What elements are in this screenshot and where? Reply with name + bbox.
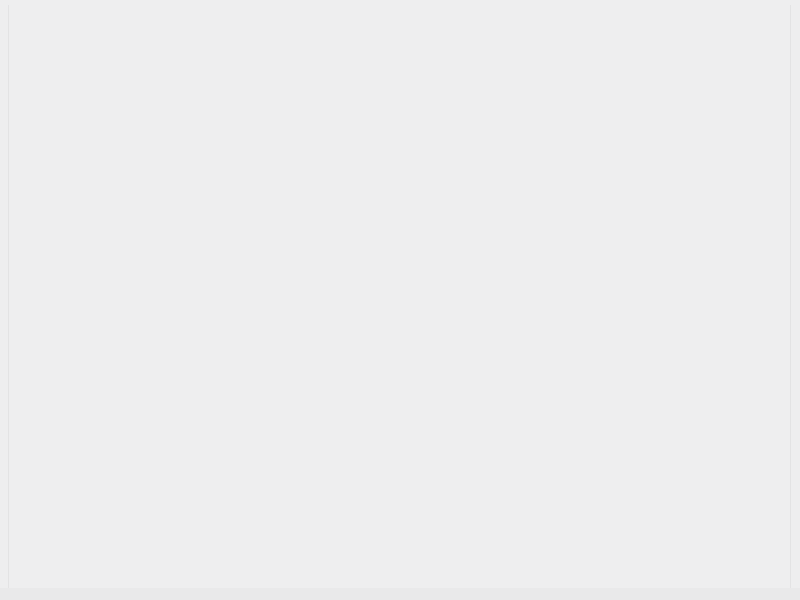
arrow-down-icon xyxy=(163,78,237,136)
board-content: Por su…. ✓ Coste. ✓ dificultad de produc… xyxy=(132,188,462,301)
businessman-3d-icon xyxy=(432,282,800,592)
checkmark-icon: ✓ xyxy=(132,275,158,292)
bubble-line-3: sustancias que los contienen. xyxy=(80,452,410,483)
bullet-item-dificultad: ✓ dificultad de producción. xyxy=(132,273,462,295)
bubble-line-1: El hidrógeno no es fácil de obtener ya xyxy=(80,390,410,421)
title-subscript-2: 2 xyxy=(239,41,249,62)
logo-plus55 xyxy=(8,18,98,90)
board-heading: Por su…. xyxy=(132,188,462,215)
page-number: 3 xyxy=(770,559,778,575)
thought-bubble-tail-dots xyxy=(475,355,615,415)
bullet-label: Coste. xyxy=(158,245,212,267)
title-line-1-rest: : ¿Por qué no se ha convertido xyxy=(249,26,683,59)
bullet-label: dificultad de producción. xyxy=(158,273,360,295)
page-margin-top xyxy=(0,0,800,5)
slide-canvas: H2: ¿Por qué no se ha convertido en la a… xyxy=(0,0,800,600)
bubble-line-2: que se debe generar a partir de otras xyxy=(80,421,410,452)
thought-bubble-text: El hidrógeno no es fácil de obtener ya q… xyxy=(80,390,410,483)
logo-icon xyxy=(8,18,98,90)
presenter-figure xyxy=(432,282,800,592)
checkmark-icon: ✓ xyxy=(132,247,158,264)
bullet-item-coste: ✓ Coste. xyxy=(132,245,462,267)
page-margin-left xyxy=(0,0,8,600)
title-line-1: H2: ¿Por qué no se ha convertido xyxy=(120,26,780,63)
title-h-symbol: H xyxy=(217,26,238,59)
down-arrow-icon xyxy=(163,78,237,136)
tail-dots-icon xyxy=(475,355,615,415)
